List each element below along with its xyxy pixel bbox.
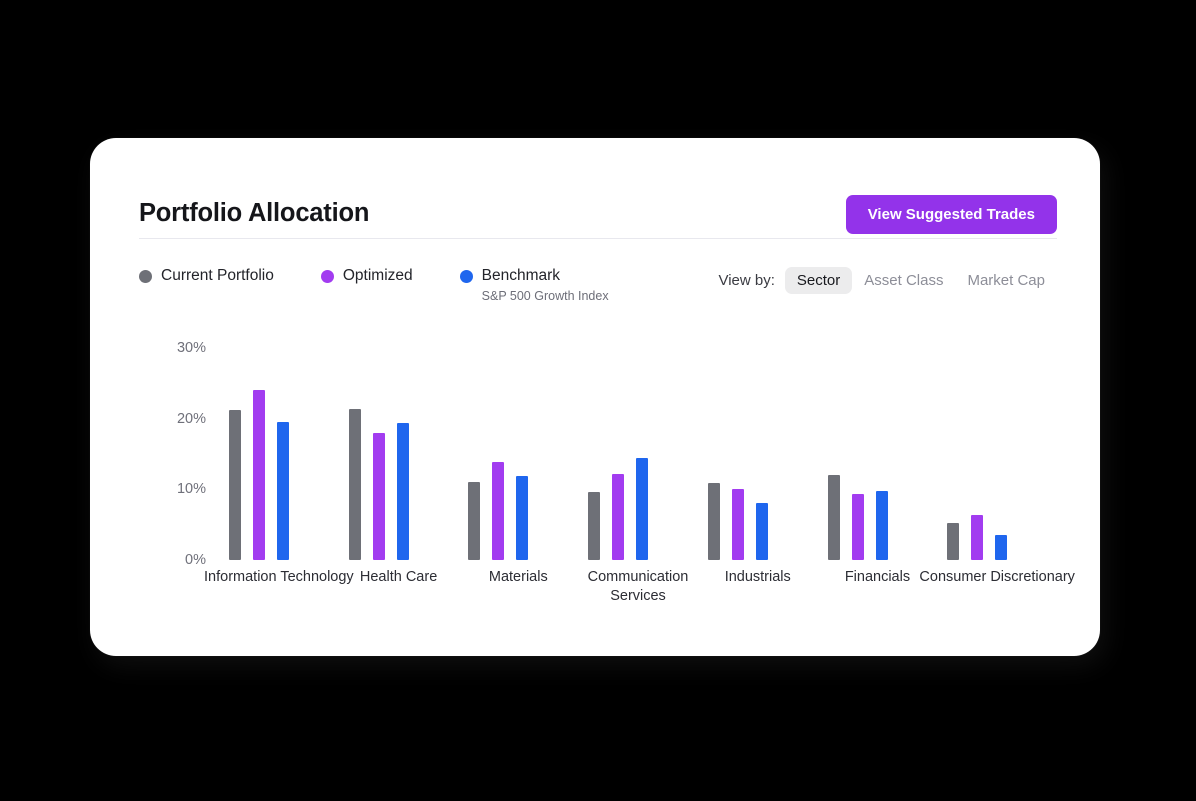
- bar-optimized[interactable]: [253, 390, 265, 560]
- legend-item-current[interactable]: Current Portfolio: [139, 266, 274, 286]
- bar-group-bars: [458, 334, 578, 560]
- legend-text-block: Optimized: [343, 266, 413, 286]
- bar-group-bars: [937, 334, 1057, 560]
- bar-group: Materials: [458, 334, 578, 560]
- view-by-switcher: View by: SectorAsset ClassMarket Cap: [718, 267, 1057, 294]
- legend-text-block: BenchmarkS&P 500 Growth Index: [482, 266, 609, 305]
- bar-benchmark[interactable]: [277, 422, 289, 560]
- bar-group: Information Technology: [219, 334, 339, 560]
- bar-group: Consumer Discretionary: [937, 334, 1057, 560]
- portfolio-allocation-card: Portfolio Allocation View Suggested Trad…: [90, 138, 1100, 656]
- legend-dot-icon: [321, 270, 334, 283]
- bar-benchmark[interactable]: [516, 476, 528, 560]
- bar-group-bars: [698, 334, 818, 560]
- bar-optimized[interactable]: [612, 474, 624, 560]
- bar-group-bars: [818, 334, 938, 560]
- y-axis-tick: 10%: [177, 481, 206, 497]
- plot-region: Information TechnologyHealth CareMateria…: [219, 334, 1057, 560]
- chart-area: Information TechnologyHealth CareMateria…: [139, 334, 1057, 620]
- bar-benchmark[interactable]: [397, 423, 409, 560]
- view-by-label: View by:: [718, 272, 774, 289]
- bar-group-bars: [339, 334, 459, 560]
- bar-current-portfolio[interactable]: [229, 410, 241, 560]
- view-by-option-market-cap[interactable]: Market Cap: [955, 267, 1057, 294]
- bar-current-portfolio[interactable]: [588, 492, 600, 561]
- bar-optimized[interactable]: [852, 494, 864, 560]
- bar-current-portfolio[interactable]: [947, 523, 959, 560]
- bar-current-portfolio[interactable]: [828, 475, 840, 560]
- y-axis-tick: 0%: [185, 552, 206, 568]
- bar-group: Industrials: [698, 334, 818, 560]
- bar-group: Financials: [818, 334, 938, 560]
- legend-text-block: Current Portfolio: [161, 266, 274, 286]
- bar-optimized[interactable]: [492, 462, 504, 560]
- bar-benchmark[interactable]: [995, 535, 1007, 560]
- bar-group: Communication Services: [578, 334, 698, 560]
- legend-item-benchmark[interactable]: BenchmarkS&P 500 Growth Index: [460, 266, 609, 305]
- bar-optimized[interactable]: [373, 433, 385, 560]
- legend-item-optimized[interactable]: Optimized: [321, 266, 413, 286]
- bar-group: Health Care: [339, 334, 459, 560]
- bar-benchmark[interactable]: [876, 491, 888, 560]
- legend-sublabel: S&P 500 Growth Index: [482, 287, 609, 305]
- x-axis-label: Consumer Discretionary: [919, 568, 1075, 587]
- legend-label: Optimized: [343, 266, 413, 286]
- chart-controls: Current PortfolioOptimizedBenchmarkS&P 5…: [139, 266, 1057, 312]
- bar-group-bars: [219, 334, 339, 560]
- view-by-option-asset-class[interactable]: Asset Class: [852, 267, 955, 294]
- y-axis-tick: 30%: [177, 340, 206, 356]
- screen-background: Portfolio Allocation View Suggested Trad…: [0, 0, 1196, 801]
- header-divider: [139, 238, 1057, 239]
- bar-current-portfolio[interactable]: [708, 483, 720, 560]
- view-by-options: SectorAsset ClassMarket Cap: [785, 267, 1057, 294]
- bar-group-bars: [578, 334, 698, 560]
- card-header: Portfolio Allocation View Suggested Trad…: [139, 188, 1057, 240]
- legend-dot-icon: [460, 270, 473, 283]
- bar-benchmark[interactable]: [756, 503, 768, 560]
- legend-dot-icon: [139, 270, 152, 283]
- bar-benchmark[interactable]: [636, 458, 648, 560]
- view-suggested-trades-button[interactable]: View Suggested Trades: [846, 195, 1057, 234]
- bar-optimized[interactable]: [971, 515, 983, 560]
- y-axis-tick: 20%: [177, 411, 206, 427]
- legend-label: Current Portfolio: [161, 266, 274, 286]
- bar-current-portfolio[interactable]: [468, 482, 480, 560]
- bar-optimized[interactable]: [732, 489, 744, 560]
- bar-groups: Information TechnologyHealth CareMateria…: [219, 334, 1057, 560]
- page-title: Portfolio Allocation: [139, 201, 369, 227]
- legend-label: Benchmark: [482, 266, 609, 286]
- chart-legend: Current PortfolioOptimizedBenchmarkS&P 5…: [139, 266, 609, 305]
- bar-current-portfolio[interactable]: [349, 409, 361, 560]
- view-by-option-sector[interactable]: Sector: [785, 267, 852, 294]
